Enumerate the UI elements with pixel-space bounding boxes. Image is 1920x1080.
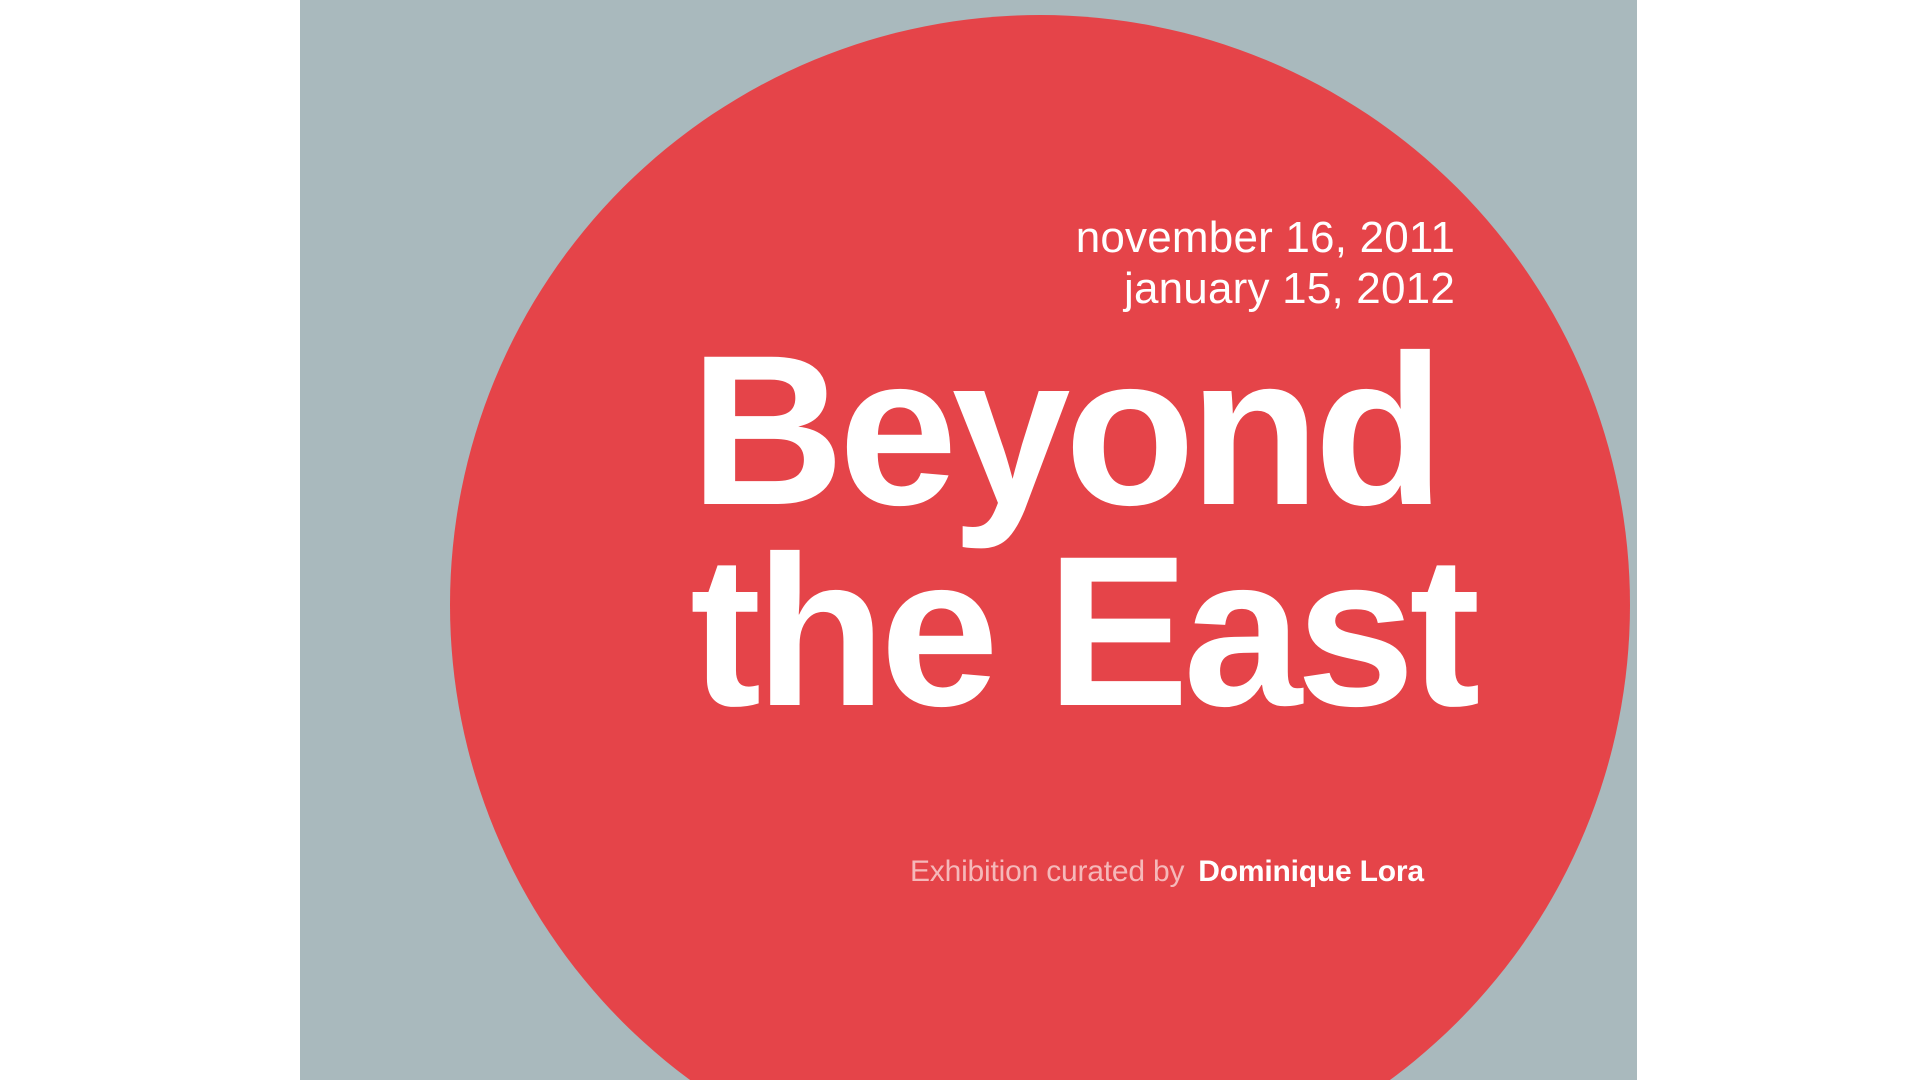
title-line-2: the East [690,531,1475,732]
exhibition-title: Beyond the East [690,330,1475,732]
curator-credit-prefix: Exhibition curated by [910,855,1184,888]
curator-credit: Exhibition curated byDominique Lora [910,855,1424,889]
exhibition-start-date: november 16, 2011 [1076,212,1455,263]
poster-content: november 16, 2011 january 15, 2012 Beyon… [300,0,1637,1080]
curator-name: Dominique Lora [1198,855,1424,888]
exhibition-dates: november 16, 2011 january 15, 2012 [1076,212,1455,315]
title-line-1: Beyond [690,330,1475,531]
exhibition-end-date: january 15, 2012 [1076,263,1455,314]
poster-panel: november 16, 2011 january 15, 2012 Beyon… [300,0,1637,1080]
poster-canvas: november 16, 2011 january 15, 2012 Beyon… [0,0,1920,1080]
